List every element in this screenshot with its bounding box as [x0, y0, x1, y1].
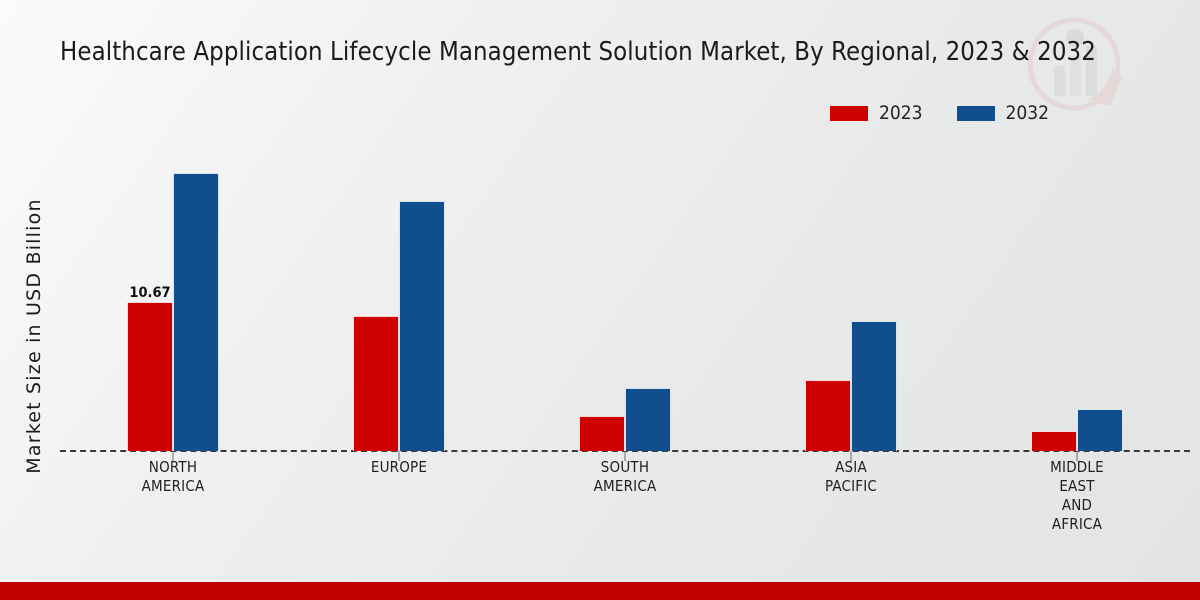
x-axis-category-label: EUROPE: [286, 458, 512, 534]
legend-label-2023: 2023: [879, 104, 923, 123]
bar-2032[interactable]: [173, 173, 219, 451]
bar-group: [286, 150, 512, 451]
bar-2023[interactable]: [579, 416, 625, 451]
bar-group: [964, 150, 1190, 451]
bar-rect: [1077, 409, 1123, 451]
x-axis-category-label: NORTH AMERICA: [60, 458, 286, 534]
legend-item-2023[interactable]: 2023: [830, 104, 923, 123]
bar-2032[interactable]: [851, 321, 897, 451]
bar-rect: [805, 380, 851, 451]
legend-label-2032: 2032: [1006, 104, 1050, 123]
bar-2032[interactable]: [1077, 409, 1123, 451]
x-axis-category-label: SOUTH AMERICA: [512, 458, 738, 534]
bar-2023[interactable]: [805, 380, 851, 451]
bar-rect: [399, 201, 445, 451]
bar-2032[interactable]: [399, 201, 445, 451]
legend-item-2032[interactable]: 2032: [957, 104, 1050, 123]
footer-accent-band: [0, 582, 1200, 600]
bar-2032[interactable]: [625, 388, 671, 451]
chart-legend: 2023 2032: [830, 104, 1049, 123]
bar-value-label: 10.67: [129, 285, 170, 301]
bar-rect: [127, 302, 173, 451]
legend-swatch-2032: [957, 106, 995, 121]
bar-rect: [173, 173, 219, 451]
x-axis-category-label: ASIA PACIFIC: [738, 458, 964, 534]
bar-rect: [625, 388, 671, 451]
bar-rect: [579, 416, 625, 451]
bar-2023[interactable]: [353, 316, 399, 451]
bar-rect: [1031, 431, 1077, 451]
bar-rect: [353, 316, 399, 451]
bar-group: [512, 150, 738, 451]
bar-2023[interactable]: [1031, 431, 1077, 451]
chart-title: Healthcare Application Lifecycle Managem…: [60, 34, 1180, 70]
x-axis-category-labels: NORTH AMERICAEUROPESOUTH AMERICAASIA PAC…: [60, 458, 1190, 534]
x-axis-category-label: MIDDLE EAST AND AFRICA: [964, 458, 1190, 534]
legend-swatch-2023: [830, 106, 868, 121]
bar-group: [738, 150, 964, 451]
bar-group: 10.67: [60, 150, 286, 451]
bar-2023[interactable]: 10.67: [127, 302, 173, 451]
bar-groups: 10.67: [60, 150, 1190, 451]
plot-area: 10.67: [60, 150, 1190, 452]
chart-page: Healthcare Application Lifecycle Managem…: [0, 0, 1200, 600]
bar-rect: [851, 321, 897, 451]
y-axis-title: Market Size in USD Billion: [23, 136, 45, 536]
